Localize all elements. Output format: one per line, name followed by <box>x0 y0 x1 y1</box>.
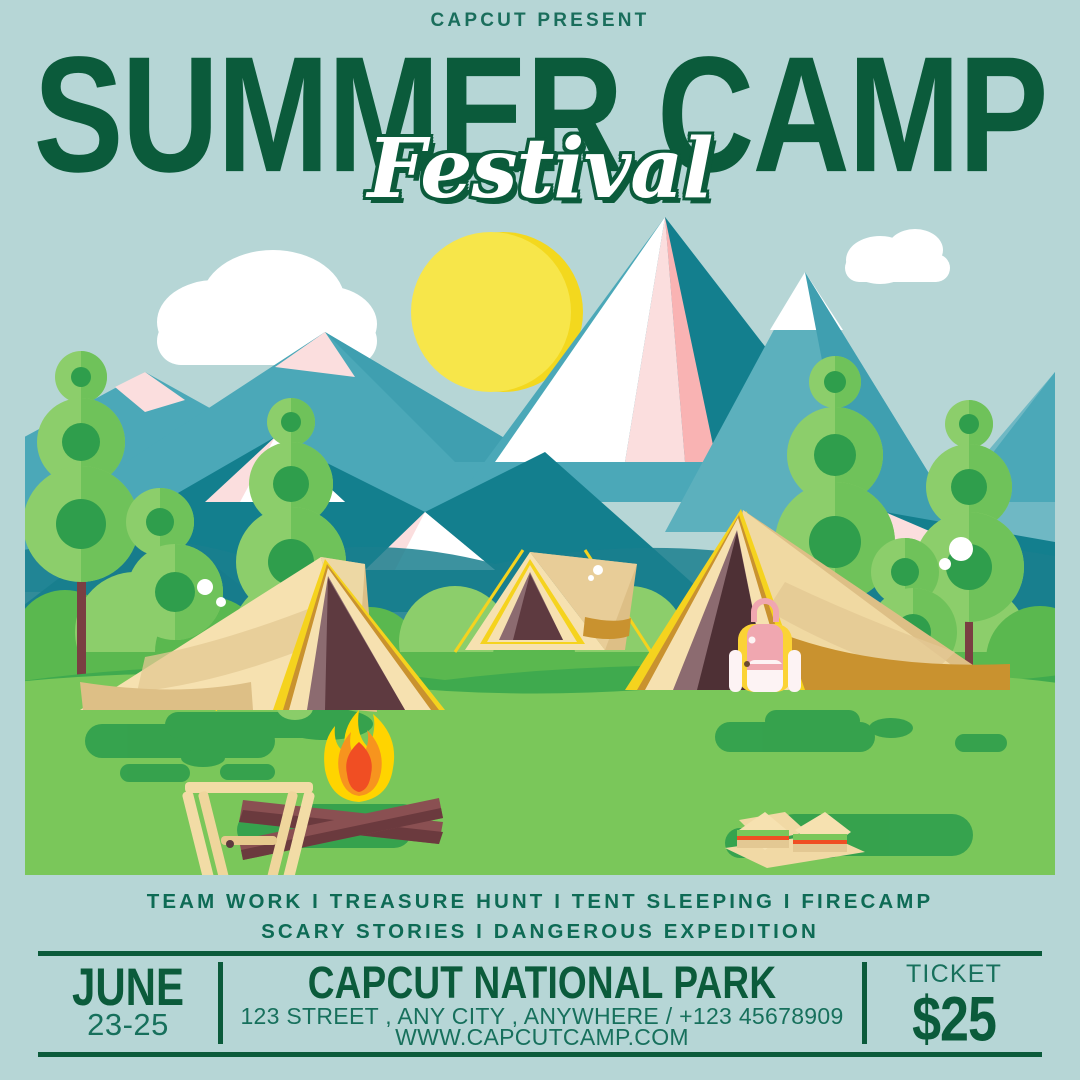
ticket-price: $25 <box>866 988 1042 1051</box>
footer-divider-bottom <box>38 1052 1042 1057</box>
scene-svg <box>25 212 1055 875</box>
ticket-label: TICKET <box>866 962 1042 987</box>
camp-illustration <box>25 212 1055 875</box>
event-month: JUNE <box>38 961 218 1014</box>
event-days: 23-25 <box>38 1009 218 1040</box>
poster-canvas: CAPCUT PRESENT SUMMER CAMP Festival <box>0 0 1080 1080</box>
tagline-line-2: SCARY STORIES I DANGEROUS EXPEDITION <box>0 920 1080 944</box>
venue-name: CAPCUT NATIONAL PARK <box>222 960 862 1005</box>
footer-divider-top <box>38 951 1042 956</box>
script-subtitle: Festival <box>0 128 1080 210</box>
tagline-line-1: TEAM WORK I TREASURE HUNT I TENT SLEEPIN… <box>0 890 1080 914</box>
venue-website[interactable]: WWW.CAPCUTCAMP.COM <box>222 1024 862 1051</box>
